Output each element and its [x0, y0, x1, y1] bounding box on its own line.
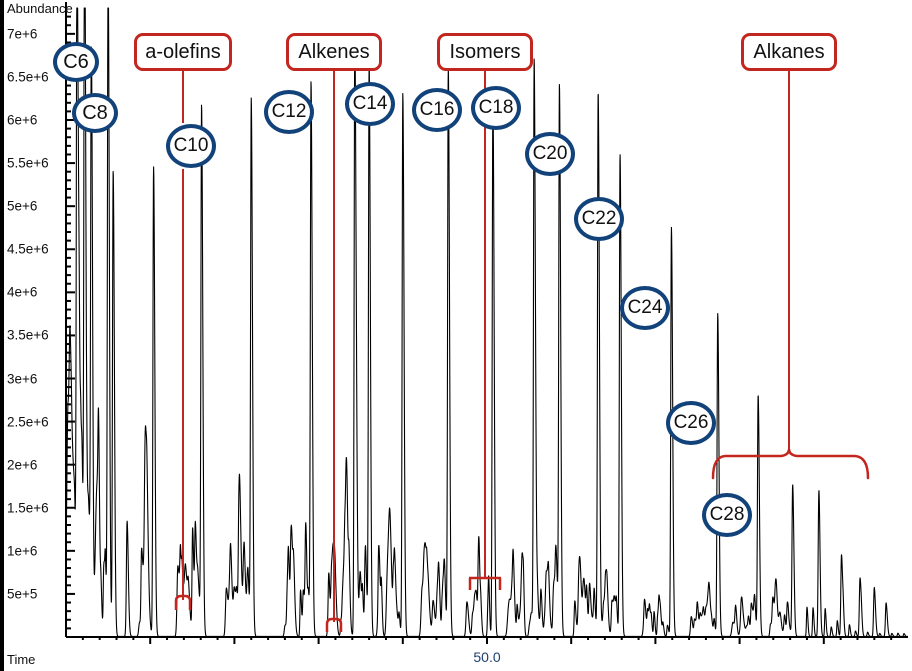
carbon-marker-c12: C12 — [264, 90, 314, 134]
carbon-marker-c22: C22 — [574, 197, 624, 241]
chromatogram-figure: Abundance Time 7e+66.5e+66e+65.5e+65e+64… — [0, 0, 912, 671]
carbon-marker-c8: C8 — [72, 93, 118, 133]
y-tick-label: 4.5e+6 — [7, 242, 49, 257]
y-tick-label: 6e+6 — [7, 113, 37, 128]
carbon-marker-c10: C10 — [166, 124, 216, 168]
callout-a-olefins: a-olefins — [134, 33, 232, 71]
y-tick-label: 3.5e+6 — [7, 328, 49, 343]
callout-alkenes: Alkenes — [286, 33, 382, 71]
y-tick-label: 7e+6 — [7, 26, 37, 41]
y-tick-label: 4e+6 — [7, 285, 37, 300]
carbon-marker-c6: C6 — [53, 42, 99, 82]
carbon-marker-c20: C20 — [525, 132, 575, 176]
carbon-marker-c24: C24 — [620, 286, 670, 330]
y-tick-label: 6.5e+6 — [7, 69, 49, 84]
annotation-leaders — [176, 71, 868, 632]
callout-alkanes: Alkanes — [741, 33, 837, 71]
carbon-marker-c18: C18 — [471, 86, 521, 130]
carbon-marker-c16: C16 — [412, 88, 462, 132]
x-tick-label: 50.0 — [473, 649, 500, 665]
x-axis-title: Time — [7, 652, 35, 667]
y-tick-label: 2e+6 — [7, 457, 37, 472]
y-tick-label: 5.5e+6 — [7, 156, 49, 171]
y-tick-label: 1.5e+6 — [7, 500, 49, 515]
callout-isomers: Isomers — [437, 33, 533, 71]
y-tick-label: 5e+6 — [7, 199, 37, 214]
y-tick-label: 1e+6 — [7, 543, 37, 558]
carbon-marker-c14: C14 — [345, 82, 395, 126]
y-axis-title: Abundance — [7, 1, 73, 16]
y-tick-label: 5e+5 — [7, 586, 37, 601]
y-tick-label: 2.5e+6 — [7, 414, 49, 429]
carbon-marker-c26: C26 — [666, 401, 716, 445]
y-tick-label: 3e+6 — [7, 371, 37, 386]
carbon-marker-c28: C28 — [702, 493, 752, 537]
